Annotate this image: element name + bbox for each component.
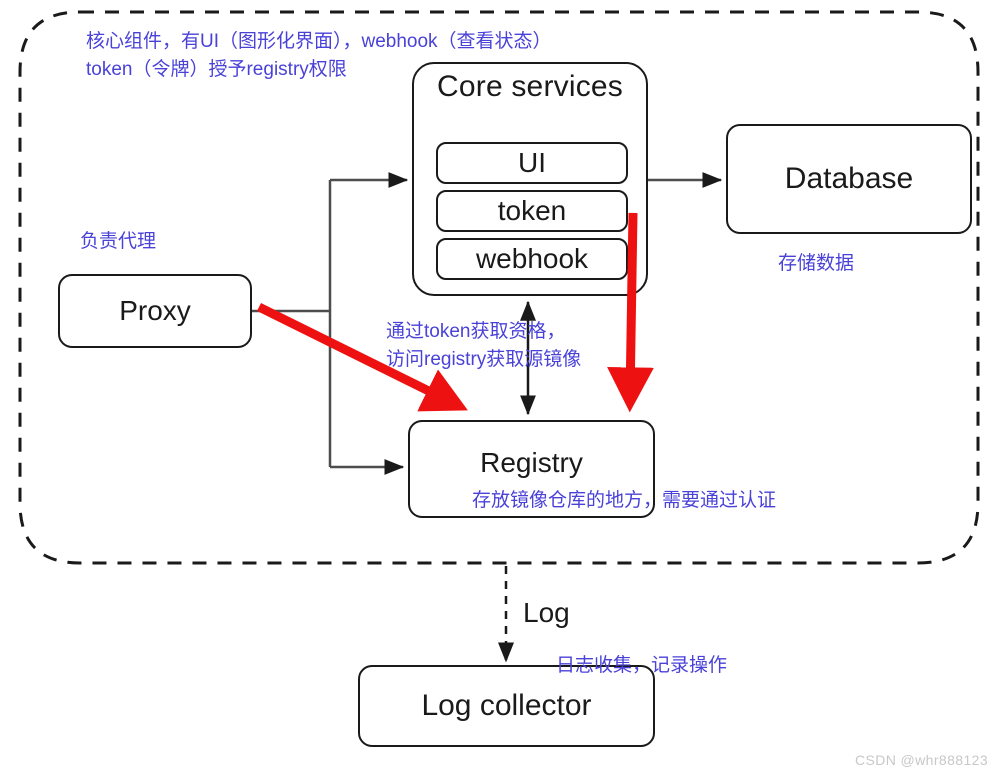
diagram-canvas: Core services UI token webhook Database … (0, 0, 1000, 775)
annotation-token-flow-line1: 通过token获取资格， (386, 318, 581, 346)
annotation-proxy: 负责代理 (80, 228, 156, 256)
annotation-token-flow-line2: 访问registry获取源镜像 (386, 346, 581, 374)
annotation-core-services-line2: token（令牌）授予registry权限 (86, 56, 552, 84)
annotation-database: 存储数据 (778, 250, 854, 278)
highlight-arrow-core-services-to-registry (630, 213, 633, 398)
watermark: CSDN @whr888123 (855, 752, 988, 768)
annotation-log: 日志收集，记录操作 (556, 652, 727, 680)
annotation-registry: 存放镜像仓库的地方，需要通过认证 (472, 487, 776, 515)
highlight-layer (0, 0, 1000, 775)
annotation-core-services-line1: 核心组件，有UI（图形化界面），webhook（查看状态） (86, 28, 552, 56)
annotation-core-services: 核心组件，有UI（图形化界面），webhook（查看状态） token（令牌）授… (86, 28, 552, 83)
annotation-token-flow: 通过token获取资格， 访问registry获取源镜像 (386, 318, 581, 373)
